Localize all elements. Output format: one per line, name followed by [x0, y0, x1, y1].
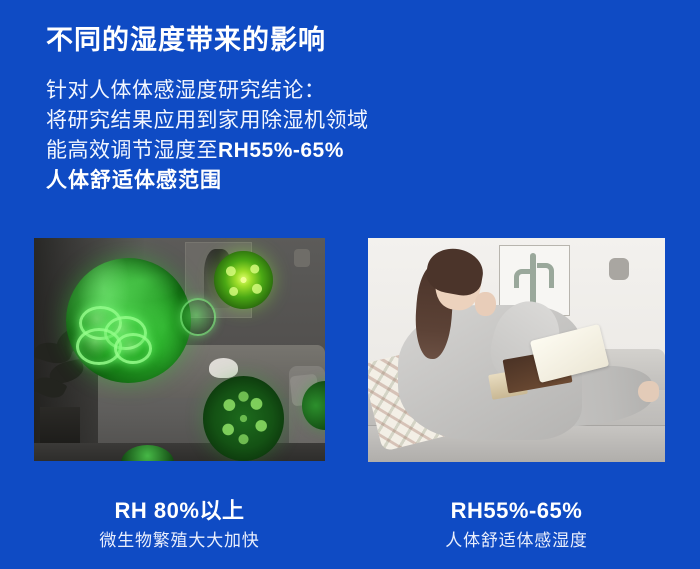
room-floor — [34, 443, 325, 461]
microbe-sphere-bright — [214, 251, 272, 309]
cactus-arm-right — [537, 263, 554, 287]
white-decor-object — [209, 358, 238, 378]
microbe-sphere-dark — [203, 376, 284, 461]
caption-main: RH55%-65% — [368, 497, 665, 525]
wall-knob — [294, 249, 310, 267]
body-copy: 针对人体体感湿度研究结论： 将研究结果应用到家用除湿机领域 能高效调节湿度至RH… — [46, 76, 466, 196]
microbe-cell — [114, 333, 153, 364]
person-hand — [475, 292, 496, 317]
caption-main: RH 80%以上 — [34, 497, 325, 525]
microbe-cell-small — [180, 298, 216, 335]
photo-comfort-humidity — [368, 238, 665, 462]
body-line-3: 能高效调节湿度至RH55%-65% — [46, 136, 466, 166]
caption-sub: 微生物繁殖大大加快 — [34, 528, 325, 554]
microbe-cell — [76, 328, 122, 365]
wall-knob — [609, 258, 629, 280]
caption-sub: 人体舒适体感湿度 — [368, 528, 665, 554]
microbe-cell — [79, 306, 123, 341]
body-line-2: 将研究结果应用到家用除湿机领域 — [46, 106, 466, 136]
caption-high-humidity: RH 80%以上 微生物繁殖大大加快 — [34, 497, 325, 554]
caption-comfort-humidity: RH55%-65% 人体舒适体感湿度 — [368, 497, 665, 554]
body-line-3-prefix: 能高效调节湿度至 — [46, 139, 218, 162]
poster-root: 不同的湿度带来的影响 针对人体体感湿度研究结论： 将研究结果应用到家用除湿机领域… — [0, 0, 700, 569]
humidity-range-highlight: RH55%-65% — [218, 139, 344, 162]
person-foot — [638, 381, 659, 401]
microbe-cluster-large — [66, 258, 191, 383]
photo-high-humidity — [34, 238, 325, 461]
cactus-arm-left — [514, 269, 531, 288]
body-line-4: 人体舒适体感范围 — [46, 166, 466, 196]
page-title: 不同的湿度带来的影响 — [46, 18, 326, 57]
microbe-cell — [104, 316, 148, 351]
body-line-1: 针对人体体感湿度研究结论： — [46, 76, 466, 106]
